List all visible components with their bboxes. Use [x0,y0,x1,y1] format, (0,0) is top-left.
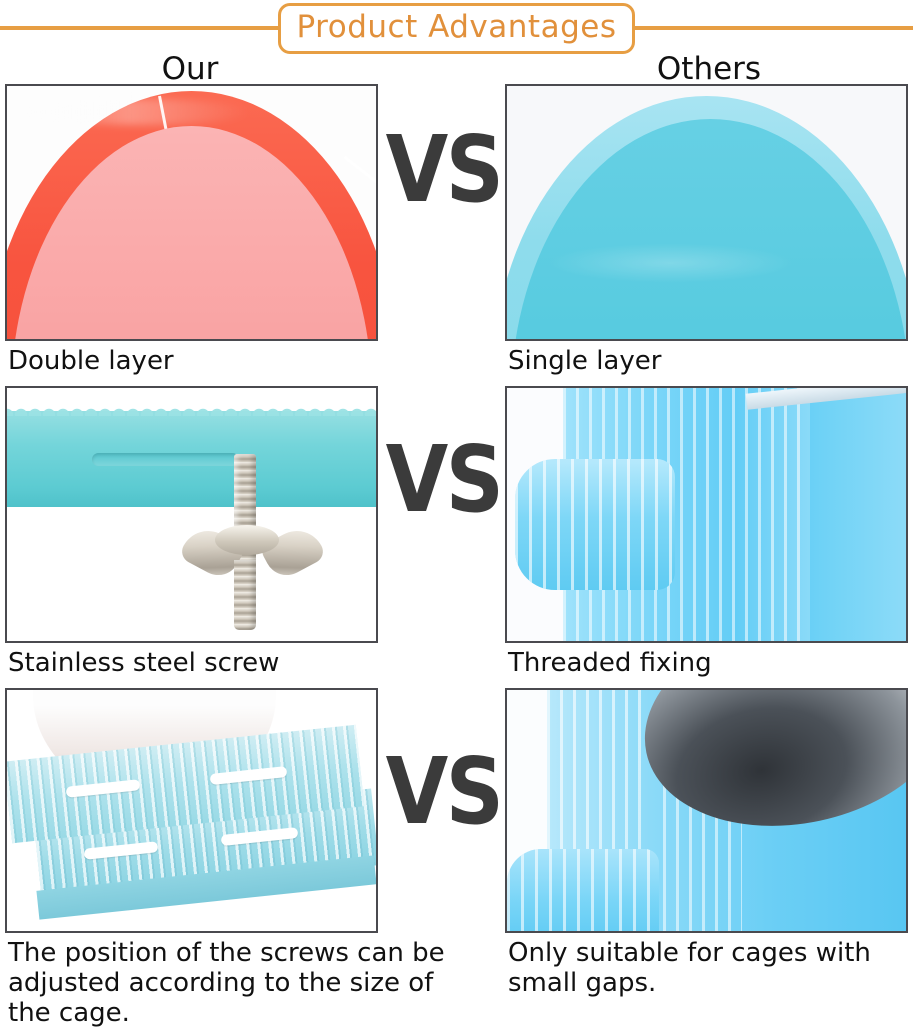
fixed-holder-with-steel-bowl-image [507,690,906,931]
comparison-row: VS The position of the screws can be adj… [0,688,913,988]
product-image-our [5,386,378,643]
product-image-our [5,84,378,341]
pink-double-layer-bowl-image [7,86,376,339]
comparison-row: VS Double layer Single layer [0,84,913,380]
vs-badge: VS [386,746,498,838]
vs-badge: VS [386,434,498,526]
plastic-threaded-knob-image [507,388,906,641]
comparison-row: VS Stainless steel screw Threaded fixing [0,386,913,682]
caption-others: Single layer [508,346,908,376]
vs-badge: VS [386,124,498,216]
caption-our: Stainless steel screw [8,648,478,678]
comparison-grid: VS Double layer Single layer [0,0,913,996]
caption-our: The position of the screws can be adjust… [8,938,478,1028]
caption-our: Double layer [8,346,478,376]
product-image-others [505,688,908,933]
cyan-single-layer-bowl-image [507,86,906,339]
stainless-wing-screw-image [7,388,376,641]
banner-title-box: Product Advantages [278,3,636,54]
caption-others: Threaded fixing [508,648,908,678]
product-image-others [505,386,908,643]
page-title: Product Advantages [297,8,617,46]
product-image-our [5,688,378,933]
product-image-others [505,84,908,341]
caption-others: Only suitable for cages with small gaps. [508,938,908,998]
adjustable-brackets-image [7,690,376,931]
